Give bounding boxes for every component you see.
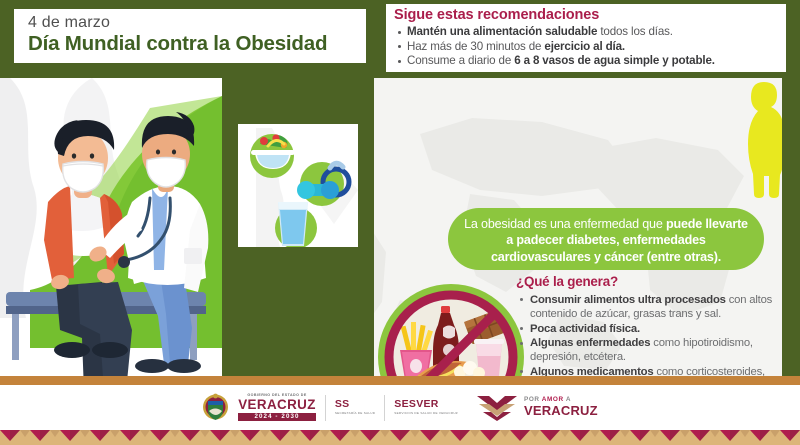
doctor-patient-illustration bbox=[0, 78, 222, 376]
sesver-acronym: SESVER bbox=[394, 399, 458, 410]
rec-lead-1: Haz más de 30 minutos de bbox=[407, 40, 544, 53]
list-item: Mantén una alimentación saludable todos … bbox=[407, 25, 780, 40]
list-item: Poca actividad física. bbox=[530, 322, 791, 336]
veracruz-label: VERACRUZ bbox=[238, 398, 316, 412]
rec-lead-2: Consume a diario de bbox=[407, 54, 514, 67]
rec-bold-1: ejercicio al día. bbox=[544, 40, 625, 53]
gobierno-veracruz-wordmark: GOBIERNO DEL ESTADO DE VERACRUZ 2024 - 2… bbox=[238, 394, 316, 421]
ss-acronym: SS bbox=[335, 399, 375, 410]
quote-lead: La obesidad es una enfermedad que bbox=[464, 217, 666, 231]
veracruz-coat-of-arms-icon bbox=[202, 393, 229, 423]
footer-orange-strip bbox=[0, 376, 800, 385]
right-olive-stripe bbox=[782, 78, 800, 376]
event-date: 4 de marzo bbox=[28, 13, 356, 32]
rec-bold-2: 6 a 8 vasos de agua simple y potable. bbox=[514, 54, 715, 67]
recommendations-list: Mantén una alimentación saludable todos … bbox=[394, 25, 780, 69]
doctor-patient-svg bbox=[0, 78, 222, 376]
divider bbox=[384, 395, 385, 421]
healthy-habits-icon-card bbox=[238, 124, 358, 247]
footer: GOBIERNO DEL ESTADO DE VERACRUZ 2024 - 2… bbox=[0, 376, 800, 445]
por-amor-a-veracruz-logo: POR AMOR A VERACRUZ bbox=[475, 393, 598, 423]
sesver-logo: SESVER SERVICIOS DE SALUD DE VERACRUZ bbox=[394, 399, 458, 415]
disease-warning-banner: La obesidad es una enfermedad que puede … bbox=[448, 208, 764, 270]
list-item: Algunas enfermedades como hipotiroidismo… bbox=[530, 336, 791, 364]
list-item: Consumir alimentos ultra procesados con … bbox=[530, 293, 791, 321]
recommendations-title: Sigue estas recomendaciones bbox=[394, 7, 780, 24]
cause-bold-0: Consumir alimentos ultra procesados bbox=[530, 294, 726, 306]
healthy-habits-icons bbox=[238, 124, 358, 247]
zigzag-border bbox=[0, 430, 800, 445]
recommendations-card: Sigue estas recomendaciones Mantén una a… bbox=[386, 4, 786, 72]
list-item: Haz más de 30 minutos de ejercicio al dí… bbox=[407, 40, 780, 55]
por-amor-a-veracruz-text: POR AMOR A VERACRUZ bbox=[524, 397, 598, 417]
rec-rest-0: todos los días. bbox=[597, 25, 673, 38]
page-title: Día Mundial contra la Obesidad bbox=[28, 32, 356, 56]
footer-logos: GOBIERNO DEL ESTADO DE VERACRUZ 2024 - 2… bbox=[0, 385, 800, 430]
title-card: 4 de marzo Día Mundial contra la Obesida… bbox=[14, 9, 366, 63]
cause-bold-1: Poca actividad física. bbox=[530, 323, 640, 335]
main-content: La obesidad es una enfermedad que puede … bbox=[0, 78, 800, 376]
pav-veracruz-label: VERACRUZ bbox=[524, 404, 598, 418]
administration-years: 2024 - 2030 bbox=[238, 413, 316, 421]
top-band: 4 de marzo Día Mundial contra la Obesida… bbox=[0, 0, 800, 78]
sesver-subtitle: SERVICIOS DE SALUD DE VERACRUZ bbox=[394, 411, 458, 415]
rec-bold-0: Mantén una alimentación saludable bbox=[407, 25, 597, 38]
ss-subtitle: SECRETARÍA DE SALUD bbox=[335, 411, 375, 415]
causes-title: ¿Qué la genera? bbox=[516, 274, 791, 290]
divider bbox=[325, 395, 326, 421]
ss-logo: SS SECRETARÍA DE SALUD bbox=[335, 399, 375, 415]
por-amor-a-veracruz-mark bbox=[475, 393, 519, 423]
list-item: Consume a diario de 6 a 8 vasos de agua … bbox=[407, 54, 780, 69]
infographic-poster: 4 de marzo Día Mundial contra la Obesida… bbox=[0, 0, 800, 445]
icon-column bbox=[222, 78, 374, 376]
cause-bold-2: Algunas enfermedades bbox=[530, 337, 650, 349]
disease-warning-text: La obesidad es una enfermedad que puede … bbox=[464, 216, 748, 265]
